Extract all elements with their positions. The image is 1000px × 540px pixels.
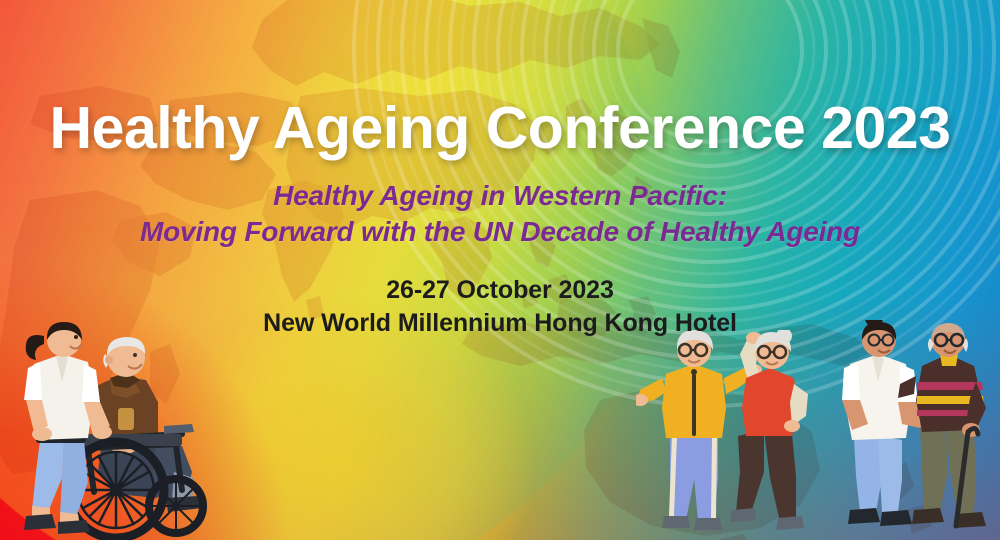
conference-subtitle: Healthy Ageing in Western Pacific: Movin… (0, 178, 1000, 251)
conference-subtitle-line-2: Moving Forward with the UN Decade of Hea… (0, 214, 1000, 250)
conference-banner: Healthy Ageing Conference 2023 Healthy A… (0, 0, 1000, 540)
conference-title: Healthy Ageing Conference 2023 (0, 98, 1000, 160)
conference-subtitle-line-1: Healthy Ageing in Western Pacific: (0, 178, 1000, 214)
banner-text-block: Healthy Ageing Conference 2023 Healthy A… (0, 0, 1000, 339)
conference-date: 26-27 October 2023 (0, 275, 1000, 306)
conference-venue: New World Millennium Hong Kong Hotel (0, 308, 1000, 339)
